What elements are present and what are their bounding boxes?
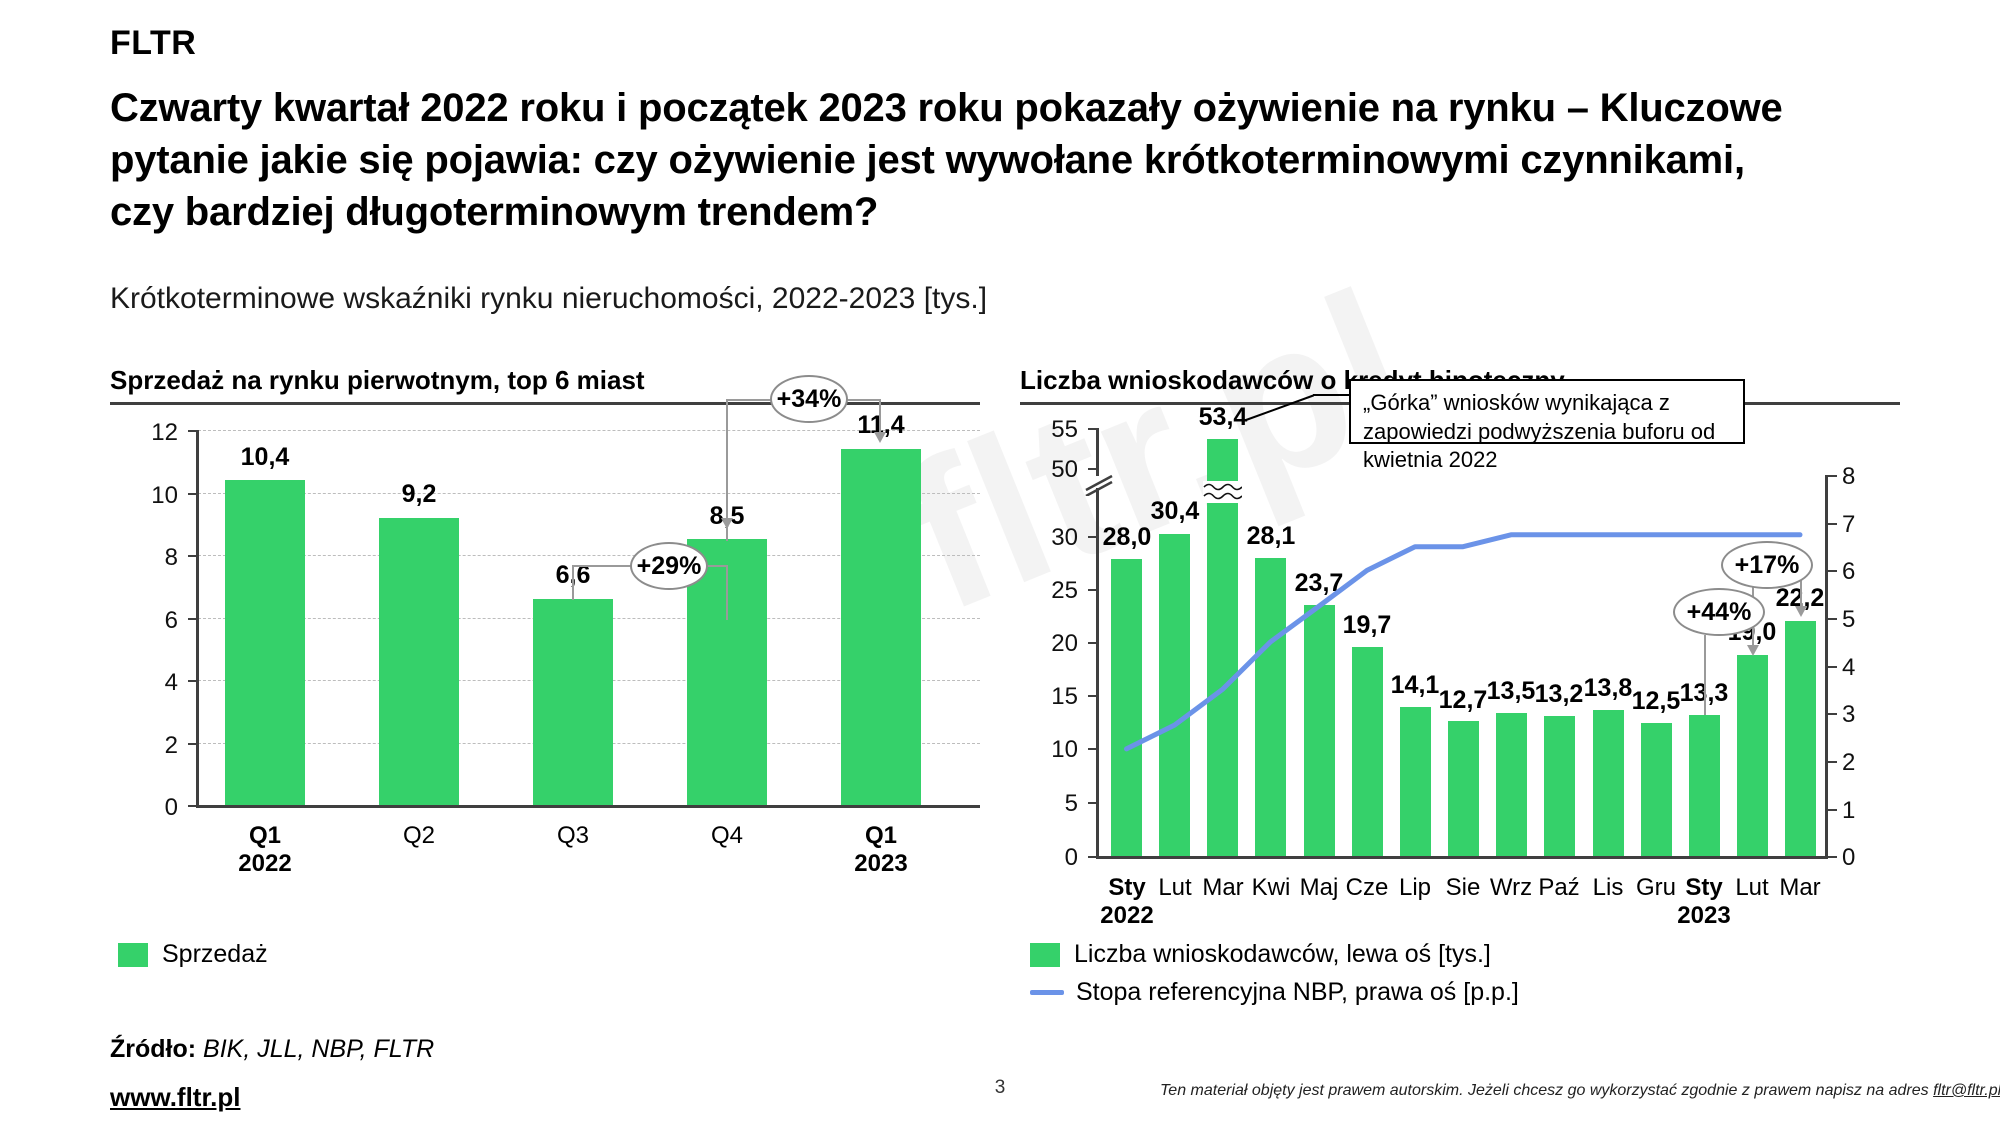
- left-chart-title: Sprzedaż na rynku pierwotnym, top 6 mias…: [110, 365, 645, 396]
- y-axis-label: 6: [120, 609, 178, 633]
- x-label-sub: 2023: [854, 850, 907, 877]
- bar-value-label: 9,2: [359, 482, 479, 507]
- bar-break-icon: [1203, 481, 1242, 503]
- source-note: Źródło: BIK, JLL, NBP, FLTR: [110, 1035, 434, 1064]
- bar[interactable]: [841, 449, 921, 805]
- left-x-axis: [196, 805, 980, 808]
- x-label-text: Q3: [557, 822, 589, 849]
- bar[interactable]: [533, 599, 613, 805]
- y-axis-label: 0: [120, 796, 178, 820]
- left-chart: 12 10 8 6 4 2 0 10,4 9,2 6,6 8,5 11,4 Q1…: [110, 430, 980, 860]
- legend-item: Sprzedaż: [118, 940, 268, 969]
- left-chart-rule: [110, 402, 980, 405]
- x-label-sub: 2023: [1677, 902, 1730, 929]
- brand-logo: FLTR: [110, 24, 196, 63]
- callout-lead-line: [572, 565, 574, 600]
- legend-item: Liczba wnioskodawców, lewa oś [tys.]: [1030, 940, 1519, 969]
- annotation-box-gorka: „Górka” wniosków wynikająca z zapowiedzi…: [1349, 379, 1745, 444]
- source-label: Źródło:: [110, 1035, 196, 1063]
- copyright-note: Ten materiał objęty jest prawem autorski…: [1160, 1082, 2000, 1100]
- y-tick: [188, 555, 197, 557]
- callout-lead-line: [846, 399, 880, 401]
- y-axis-label: 2: [120, 734, 178, 758]
- legend-swatch-box-icon: [1030, 943, 1060, 967]
- callout-lead-line: [726, 399, 728, 541]
- x-axis-label: Mar: [1759, 874, 1841, 902]
- page-subtitle: Krótkoterminowe wskaźniki rynku nierucho…: [110, 282, 1710, 316]
- y-axis-label: 4: [120, 671, 178, 695]
- callout-lead-line: [572, 565, 632, 567]
- callout-pill-34[interactable]: +34%: [770, 375, 848, 423]
- x-label-sub: 2022: [1100, 902, 1153, 929]
- x-axis-label: Q1 2022: [205, 822, 325, 877]
- bar[interactable]: [225, 480, 305, 805]
- bar[interactable]: [379, 518, 459, 806]
- slide: fltr.pl FLTR Czwarty kwartał 2022 roku i…: [0, 0, 2000, 1125]
- legend-label: Stopa referencyjna NBP, prawa oś [p.p.]: [1076, 978, 1519, 1007]
- x-label-text: Q2: [403, 822, 435, 849]
- legend-item: Stopa referencyjna NBP, prawa oś [p.p.]: [1030, 978, 1519, 1007]
- axis-break-icon: [1084, 470, 1114, 496]
- right-chart-legend: Liczba wnioskodawców, lewa oś [tys.] Sto…: [1030, 940, 1519, 1016]
- legend-label: Liczba wnioskodawców, lewa oś [tys.]: [1074, 940, 1491, 969]
- copyright-email-link[interactable]: fltr@fltr.pl: [1933, 1082, 2000, 1099]
- y-axis-label: 10: [120, 484, 178, 508]
- y-axis-label: 12: [120, 421, 178, 445]
- copyright-text: Ten materiał objęty jest prawem autorski…: [1160, 1082, 1933, 1099]
- y-tick: [188, 493, 197, 495]
- left-chart-legend: Sprzedaż: [118, 940, 268, 978]
- callout-lead-line: [726, 399, 772, 401]
- x-axis-label: Q3: [513, 822, 633, 850]
- callout-lead-line: [726, 565, 728, 620]
- legend-label: Sprzedaż: [162, 940, 268, 969]
- callout-pill-44[interactable]: +44%: [1673, 588, 1765, 636]
- y-axis-label: 8: [120, 546, 178, 570]
- x-label-text: Q4: [711, 822, 743, 849]
- y-tick: [188, 743, 197, 745]
- x-label-text: Mar: [1779, 874, 1820, 901]
- right-chart: 55 50 30 25 20 15 10 5 0 8 7 6 5 4 3 2 1…: [1020, 428, 1900, 868]
- annotation-lead-line: [1313, 394, 1351, 396]
- x-label-text: Q1: [249, 822, 281, 849]
- y-tick: [188, 430, 197, 432]
- page-title: Czwarty kwartał 2022 roku i początek 202…: [110, 82, 1810, 238]
- y-tick: [188, 680, 197, 682]
- x-axis-label: Q1 2023: [821, 822, 941, 877]
- y-tick: [188, 618, 197, 620]
- callout-arrow: [1795, 606, 1807, 617]
- x-label-text: Q1: [865, 822, 897, 849]
- x-label-sub: 2022: [238, 850, 291, 877]
- x-axis-label: Q2: [359, 822, 479, 850]
- x-axis-label: Q4: [667, 822, 787, 850]
- legend-swatch-box-icon: [118, 943, 148, 967]
- source-value: BIK, JLL, NBP, FLTR: [203, 1035, 434, 1063]
- callout-pill-17[interactable]: +17%: [1721, 541, 1813, 589]
- bar-value-label: 10,4: [205, 445, 325, 470]
- callout-arrow: [874, 432, 886, 443]
- callout-lead-line: [706, 565, 727, 567]
- legend-swatch-line-icon: [1030, 990, 1064, 995]
- callout-lead-line: [1704, 635, 1706, 715]
- callout-lead-line: [879, 399, 881, 434]
- nbp-rate-line: [1020, 428, 1900, 868]
- callout-pill-29[interactable]: +29%: [630, 542, 708, 590]
